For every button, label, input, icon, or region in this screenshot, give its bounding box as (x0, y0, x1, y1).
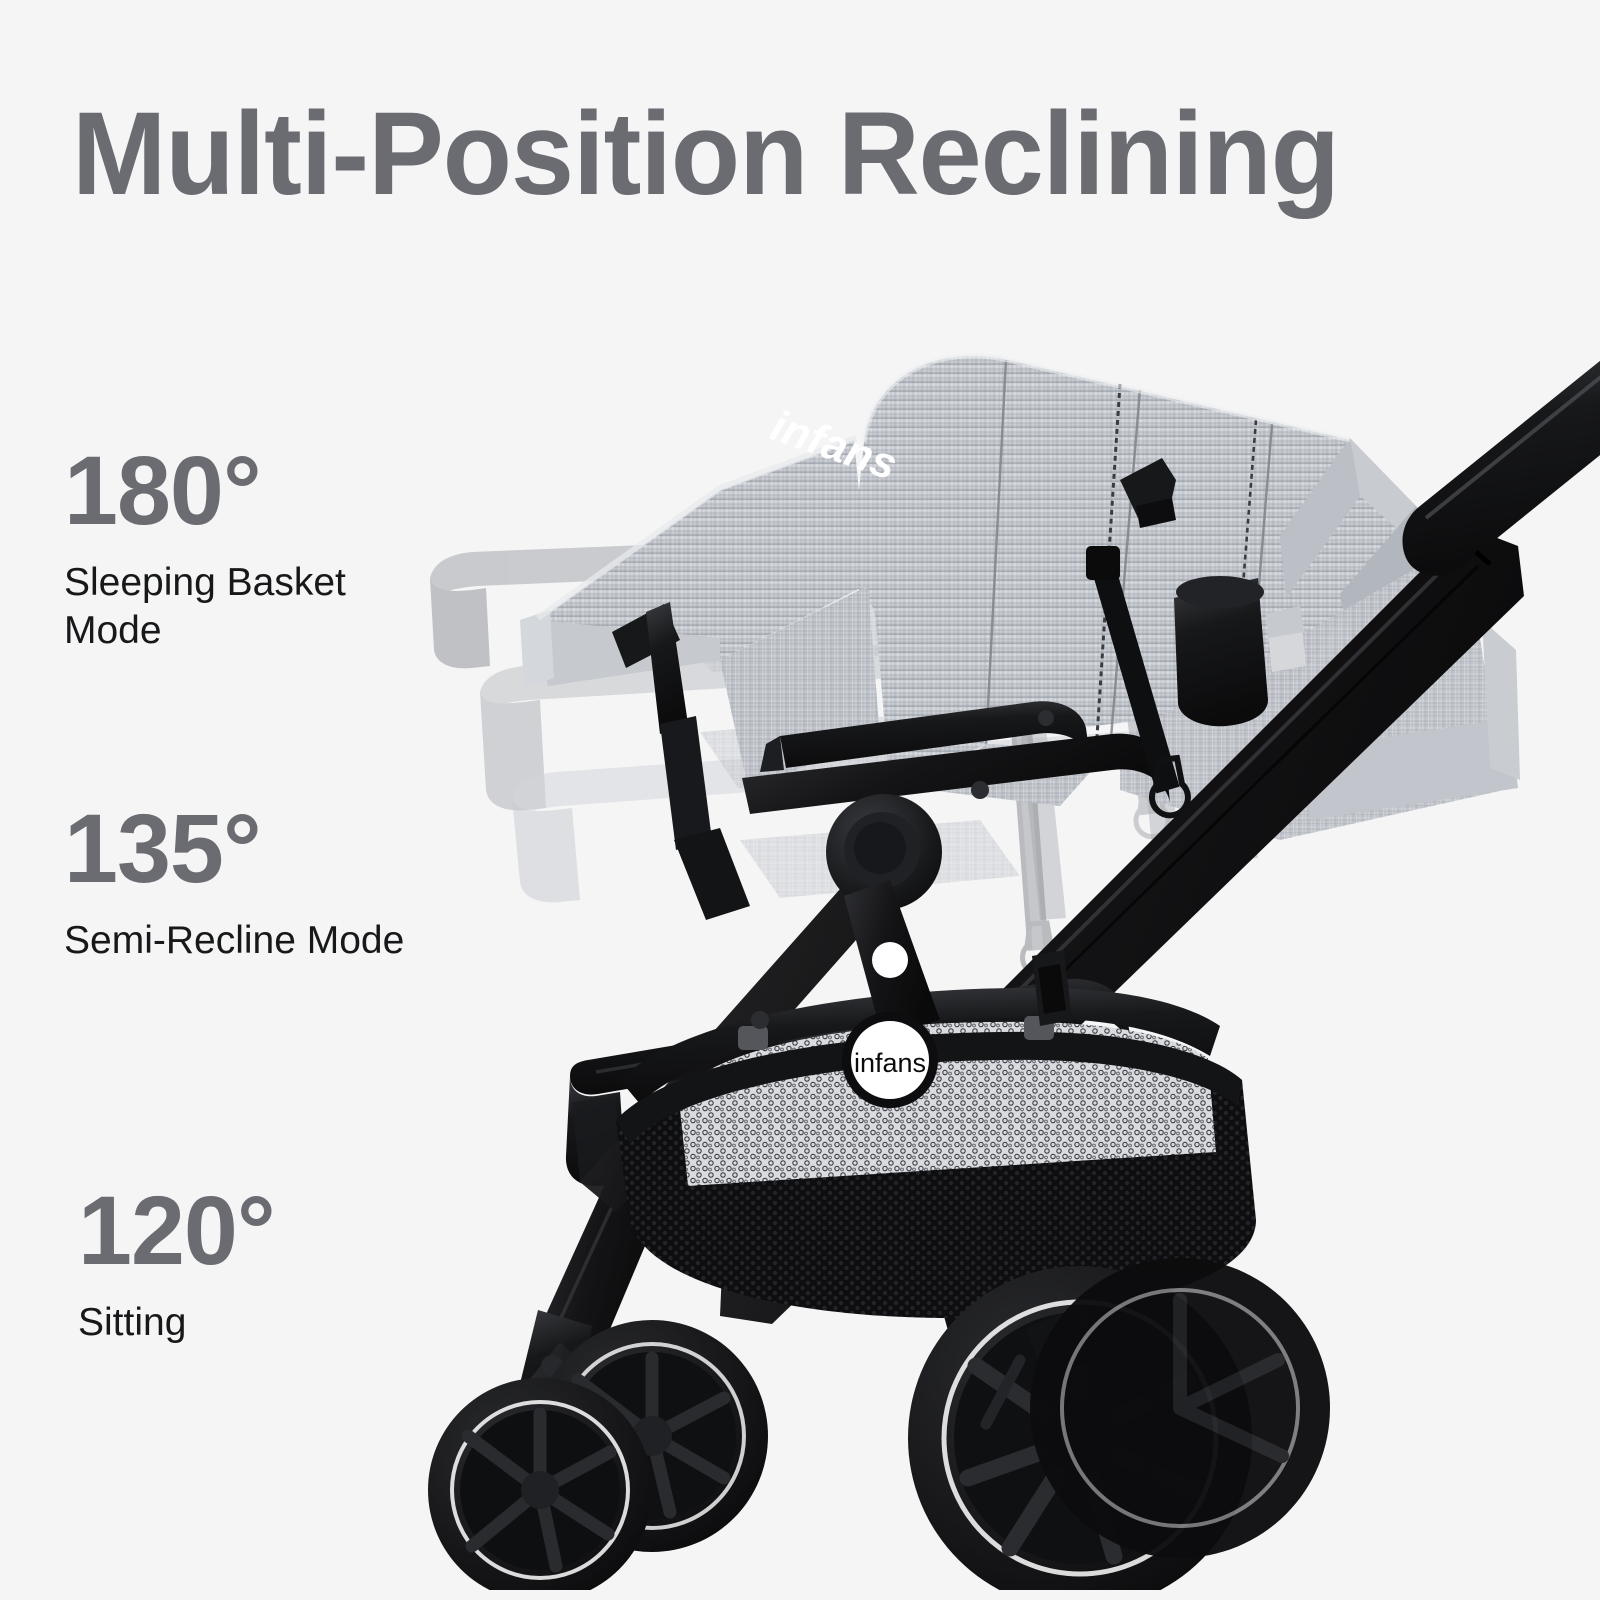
feature-label: Semi-Recline Mode (64, 917, 404, 965)
logo-badge: infans (842, 1012, 938, 1108)
feature-120: 120° Sitting (78, 1182, 275, 1347)
feature-label: Sitting (78, 1299, 275, 1347)
feature-135: 135° Semi-Recline Mode (64, 800, 404, 965)
page-title: Multi-Position Reclining (72, 95, 1483, 213)
feature-label: Sleeping Basket Mode (64, 559, 424, 654)
feature-value: 120° (78, 1182, 275, 1279)
feature-180: 180° Sleeping Basket Mode (64, 442, 424, 654)
rear-wheel-secondary (1030, 1258, 1330, 1558)
feature-value: 135° (64, 800, 404, 897)
stroller-product-image: infans (420, 320, 1600, 1590)
feature-value: 180° (64, 442, 424, 539)
badge-brand-text: infans (854, 1048, 926, 1078)
